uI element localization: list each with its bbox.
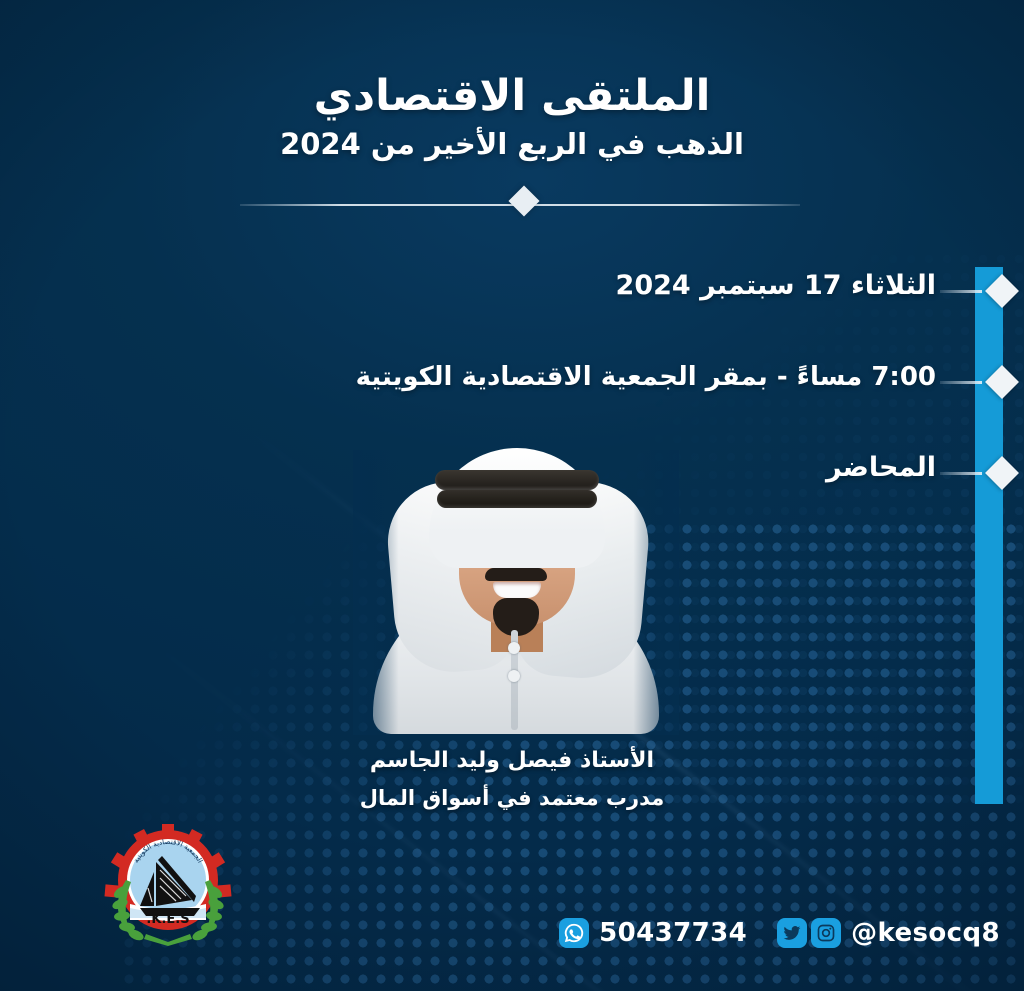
portrait-button: [508, 642, 520, 654]
portrait-smile: [493, 582, 541, 598]
portrait-button: [508, 670, 520, 682]
whatsapp-contact[interactable]: 50437734: [559, 918, 747, 948]
contact-items: 50437734: [559, 918, 1000, 948]
event-poster: الملتقى الاقتصادي الذهب في الربع الأخير …: [0, 0, 1024, 991]
social-contact[interactable]: @kesocq8: [777, 918, 1000, 948]
speaker-photo-frame: [355, 452, 677, 733]
portrait-igal-lower: [437, 490, 597, 508]
social-icons: [777, 918, 841, 948]
instagram-icon[interactable]: [811, 918, 841, 948]
portrait-illustration: [355, 434, 677, 733]
page-subtitle: الذهب في الربع الأخير من 2024: [0, 128, 1024, 161]
contact-bar: 50437734: [0, 918, 1024, 964]
speaker-name: الأستاذ فيصل وليد الجاسم: [0, 748, 1024, 773]
speaker-role: مدرب معتمد في أسواق المال: [0, 786, 1024, 810]
timeline-stem: [940, 472, 982, 475]
phone-number[interactable]: 50437734: [599, 918, 747, 948]
twitter-icon[interactable]: [777, 918, 807, 948]
timeline-stem: [940, 290, 982, 293]
whatsapp-icon[interactable]: [559, 918, 589, 948]
portrait-ghutra-crown: [429, 448, 605, 568]
speaker-label: المحاضر: [826, 452, 936, 483]
timeline-stem: [940, 381, 982, 384]
event-date: الثلاثاء 17 سبتمبر 2024: [616, 270, 936, 301]
portrait-igal-upper: [435, 470, 599, 490]
social-handle[interactable]: @kesocq8: [851, 918, 1000, 948]
page-title: الملتقى الاقتصادي: [0, 72, 1024, 120]
portrait-moustache: [485, 568, 547, 581]
speaker-photo: [355, 452, 677, 733]
accent-bar: [975, 267, 1003, 804]
event-time-venue: 7:00 مساءً - بمقر الجمعية الاقتصادية الك…: [356, 362, 936, 392]
title-block: الملتقى الاقتصادي الذهب في الربع الأخير …: [0, 72, 1024, 162]
